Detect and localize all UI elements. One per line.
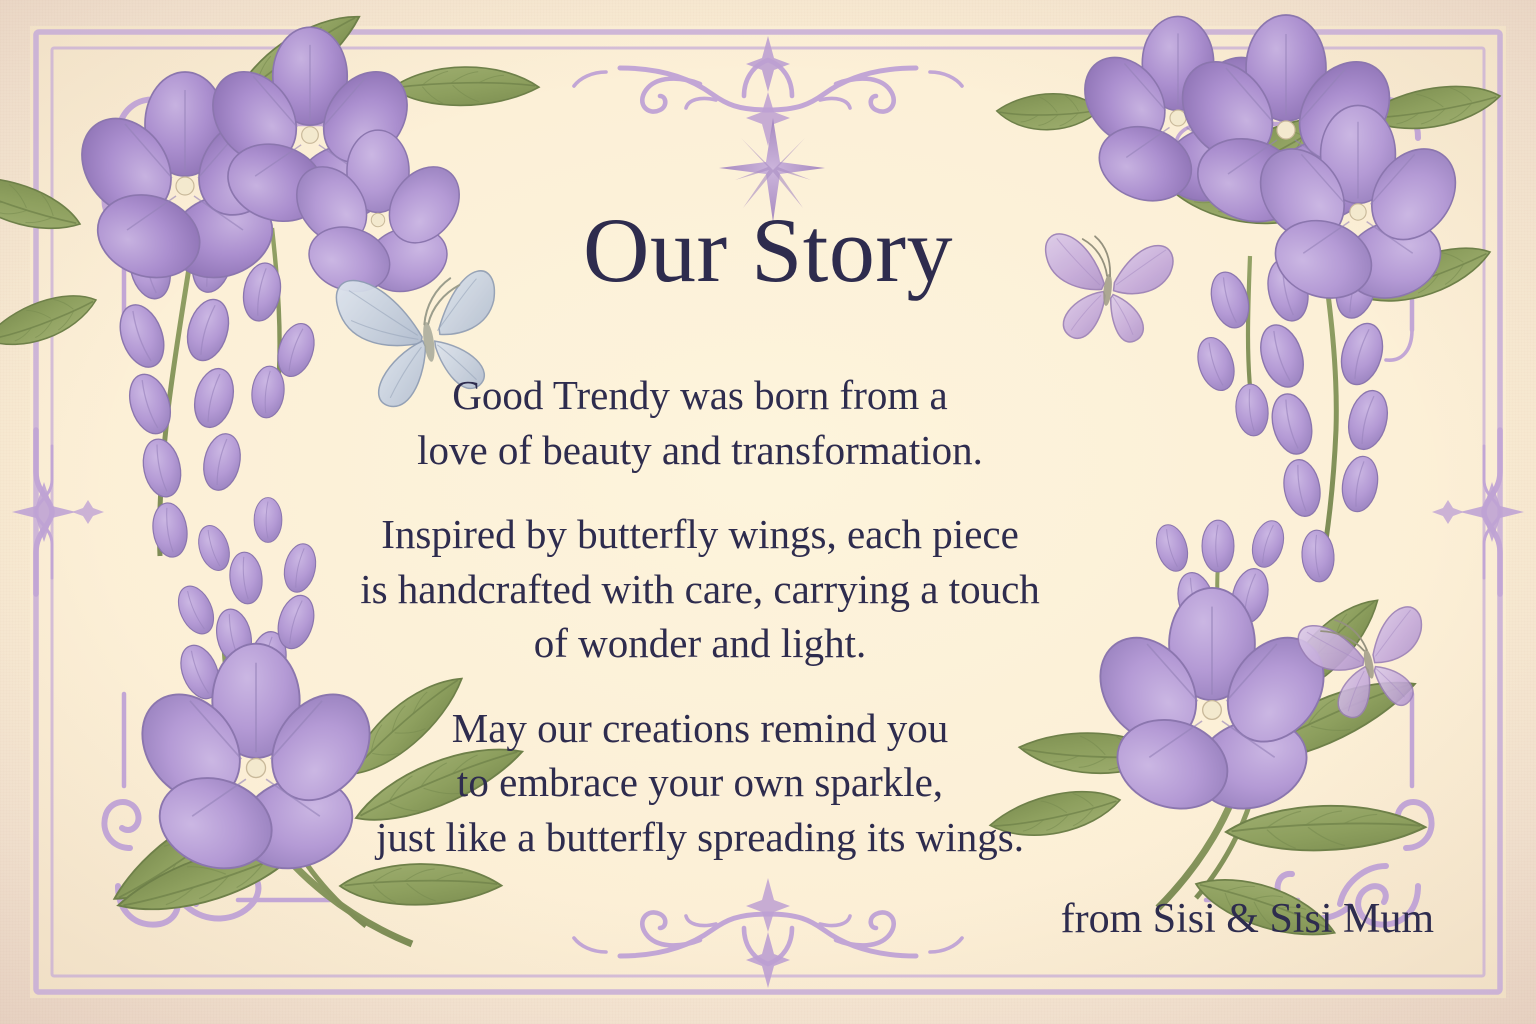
sparkle-star-icon xyxy=(719,118,825,222)
butterfly-lavender-lower-icon xyxy=(1296,602,1438,725)
butterfly-lavender-upper-icon xyxy=(1037,231,1175,347)
butterfly-blue-icon xyxy=(334,261,509,412)
story-card: Our Story Good Trendy was born from a lo… xyxy=(0,0,1536,1024)
butterflies-layer xyxy=(0,0,1536,1024)
